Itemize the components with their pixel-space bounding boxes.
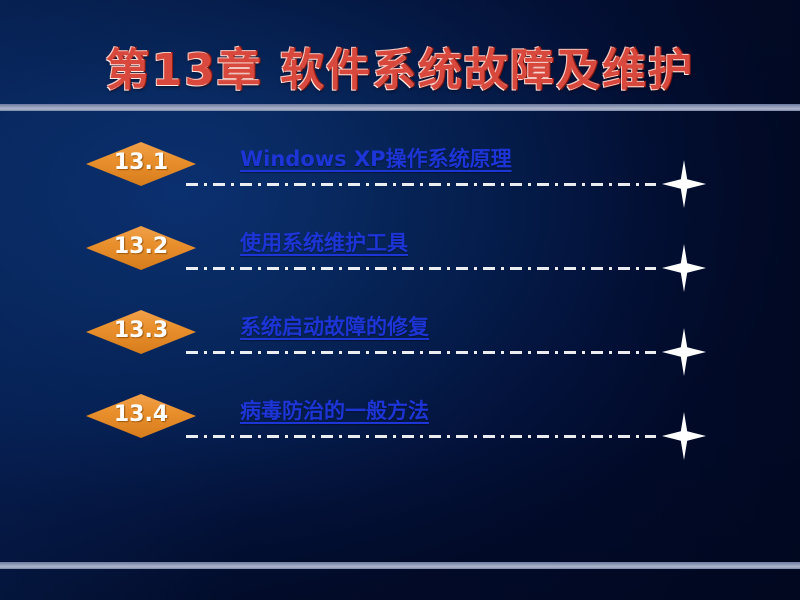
section-number-diamond[interactable]: 13.3 <box>86 310 196 354</box>
agenda-item-2[interactable]: 13.2 使用系统维护工具 <box>0 226 800 286</box>
section-number-label: 13.4 <box>114 404 168 426</box>
section-number-diamond[interactable]: 13.4 <box>86 394 196 438</box>
section-number-diamond[interactable]: 13.2 <box>86 226 196 270</box>
agenda-item-3[interactable]: 13.3 系统启动故障的修复 <box>0 310 800 370</box>
sparkle-star-icon <box>662 412 706 460</box>
section-number-diamond[interactable]: 13.1 <box>86 142 196 186</box>
section-number-label: 13.3 <box>114 320 168 342</box>
section-link-label[interactable]: 病毒防治的一般方法 <box>240 396 429 426</box>
agenda-item-1[interactable]: 13.1 Windows XP操作系统原理 <box>0 142 800 202</box>
section-number-label: 13.1 <box>114 152 168 174</box>
leader-line <box>186 267 656 270</box>
leader-line <box>186 351 656 354</box>
sparkle-star-icon <box>662 160 706 208</box>
slide-title: 第13章 软件系统故障及维护 <box>0 34 800 98</box>
presentation-slide: 第13章 软件系统故障及维护 13.1 Windows XP操作系统原理 13.… <box>0 0 800 600</box>
sparkle-star-icon <box>662 328 706 376</box>
section-link-label[interactable]: 使用系统维护工具 <box>240 228 408 258</box>
section-link-label[interactable]: 系统启动故障的修复 <box>240 312 429 342</box>
leader-line <box>186 435 656 438</box>
leader-line <box>186 183 656 186</box>
section-link-label[interactable]: Windows XP操作系统原理 <box>240 144 512 174</box>
agenda-item-4[interactable]: 13.4 病毒防治的一般方法 <box>0 394 800 454</box>
divider-bar-top <box>0 104 800 111</box>
divider-bar-bottom <box>0 562 800 569</box>
section-number-label: 13.2 <box>114 236 168 258</box>
sparkle-star-icon <box>662 244 706 292</box>
